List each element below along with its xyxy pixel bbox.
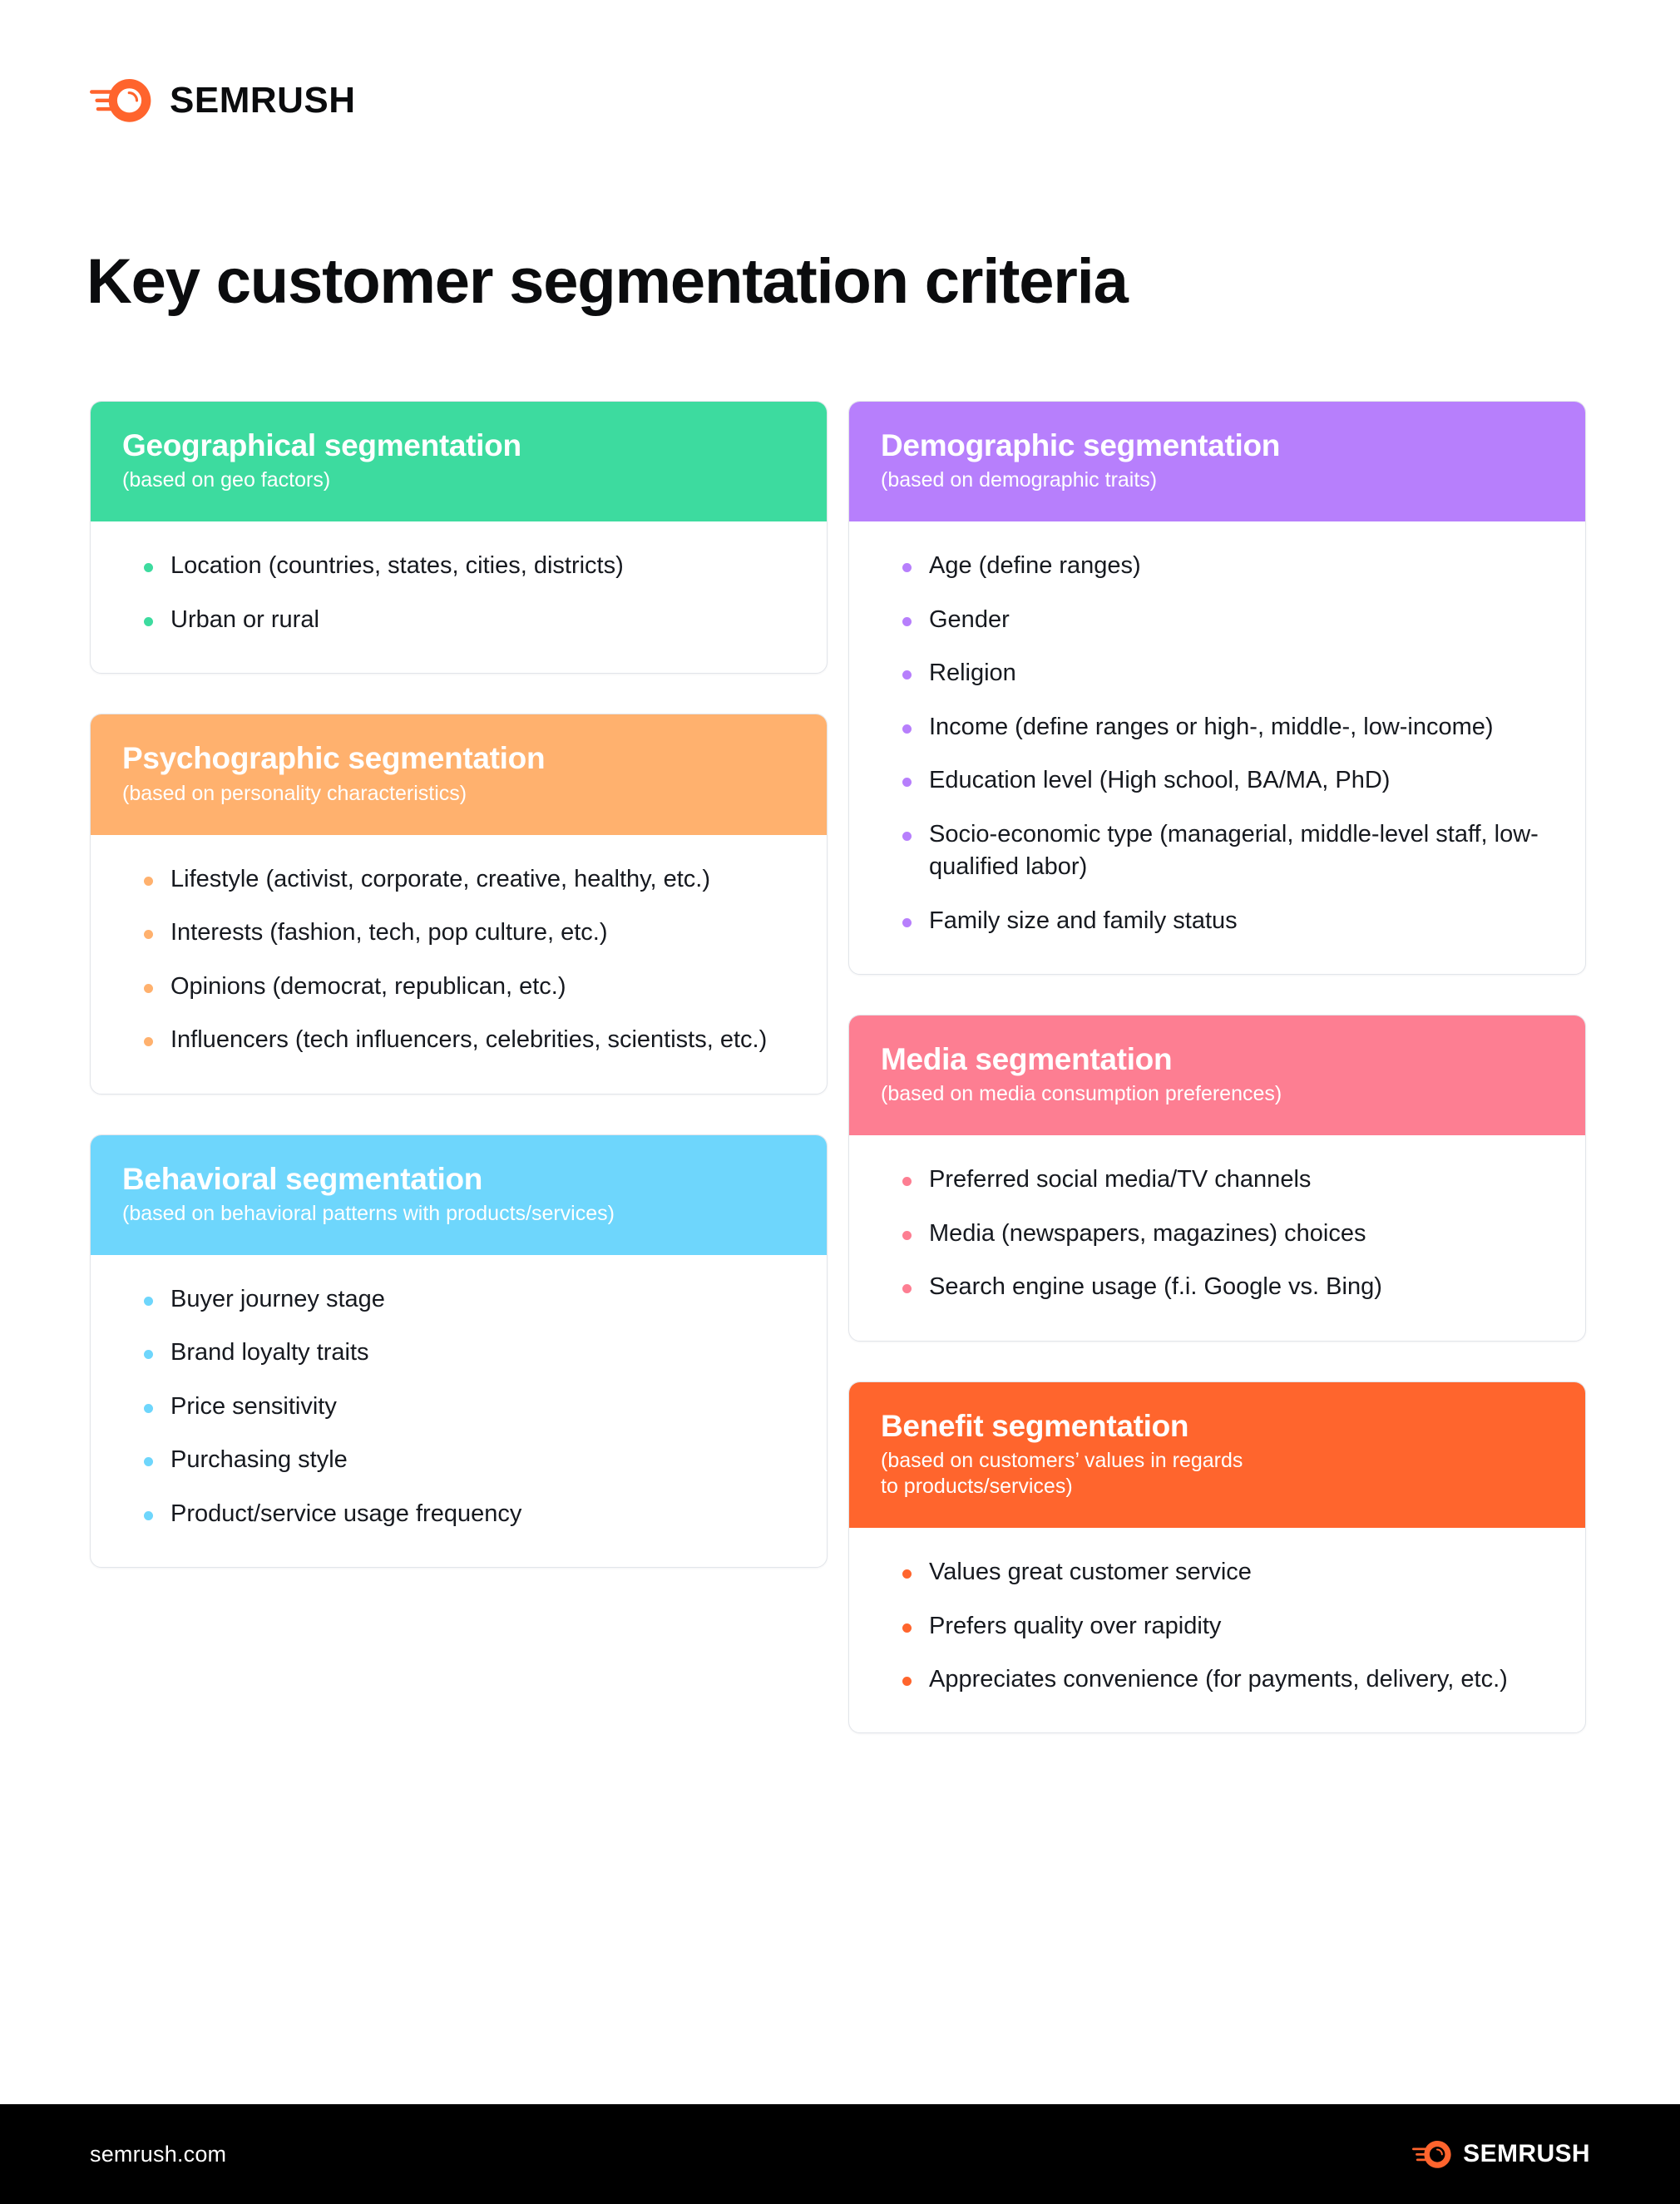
bullet-dot-icon — [902, 1284, 912, 1293]
list-item-label: Search engine usage (f.i. Google vs. Bin… — [929, 1273, 1382, 1300]
bullet-dot-icon — [902, 918, 912, 927]
card-benefit: Benefit segmentation (based on customers… — [848, 1381, 1586, 1734]
list-item-label: Product/service usage frequency — [170, 1500, 521, 1527]
list-item: Price sensitivity — [126, 1391, 792, 1423]
list-item: Purchasing style — [126, 1444, 792, 1476]
card-body-geographical: Location (countries, states, cities, dis… — [91, 521, 827, 673]
brand-wordmark: SEMRUSH — [170, 82, 356, 119]
list-item: Prefers quality over rapidity — [884, 1610, 1550, 1643]
card-body-demographic: Age (define ranges) Gender Religion Inco… — [849, 521, 1585, 974]
footer-wordmark: SEMRUSH — [1463, 2142, 1590, 2167]
list-item: Socio-economic type (managerial, middle-… — [884, 818, 1550, 884]
bullet-dot-icon — [902, 724, 912, 734]
bullet-dot-icon — [902, 563, 912, 572]
list-item-label: Income (define ranges or high-, middle-,… — [929, 714, 1494, 740]
footer-bar: semrush.com SEMRUSH — [0, 2104, 1680, 2204]
card-title: Benefit segmentation — [881, 1409, 1554, 1443]
bullet-list: Location (countries, states, cities, dis… — [126, 550, 792, 636]
bullet-dot-icon — [144, 617, 153, 626]
list-item-label: Price sensitivity — [170, 1393, 337, 1420]
card-subtitle: (based on personality characteristics) — [122, 781, 795, 807]
bullet-dot-icon — [902, 832, 912, 841]
card-subtitle: (based on geo factors) — [122, 467, 795, 493]
list-item-label: Gender — [929, 606, 1010, 633]
bullet-dot-icon — [902, 1623, 912, 1633]
list-item-label: Socio-economic type (managerial, middle-… — [929, 821, 1539, 880]
list-item-label: Preferred social media/TV channels — [929, 1166, 1311, 1193]
list-item-label: Opinions (democrat, republican, etc.) — [170, 973, 566, 1000]
list-item: Influencers (tech influencers, celebriti… — [126, 1024, 792, 1056]
list-item-label: Urban or rural — [170, 606, 319, 633]
card-title: Geographical segmentation — [122, 428, 795, 462]
list-item: Family size and family status — [884, 905, 1550, 937]
card-demographic: Demographic segmentation (based on demog… — [848, 401, 1586, 975]
bullet-dot-icon — [144, 984, 153, 993]
bullet-list: Buyer journey stage Brand loyalty traits… — [126, 1283, 792, 1530]
card-subtitle: (based on behavioral patterns with produ… — [122, 1201, 795, 1227]
card-header-demographic: Demographic segmentation (based on demog… — [849, 402, 1585, 521]
bullet-dot-icon — [144, 1457, 153, 1466]
list-item: Location (countries, states, cities, dis… — [126, 550, 792, 582]
list-item-label: Lifestyle (activist, corporate, creative… — [170, 866, 710, 892]
card-subtitle: (based on customers’ values in regards t… — [881, 1448, 1554, 1500]
right-column: Demographic segmentation (based on demog… — [848, 401, 1586, 1733]
bullet-dot-icon — [144, 1037, 153, 1046]
bullet-dot-icon — [144, 1350, 153, 1359]
card-header-geographical: Geographical segmentation (based on geo … — [91, 402, 827, 521]
list-item-label: Location (countries, states, cities, dis… — [170, 552, 624, 579]
segmentation-board: Geographical segmentation (based on geo … — [90, 401, 1587, 1733]
card-subtitle: (based on media consumption preferences) — [881, 1081, 1554, 1107]
card-title: Media segmentation — [881, 1042, 1554, 1076]
card-title: Demographic segmentation — [881, 428, 1554, 462]
list-item: Preferred social media/TV channels — [884, 1164, 1550, 1196]
bullet-dot-icon — [902, 1677, 912, 1686]
list-item: Opinions (democrat, republican, etc.) — [126, 971, 792, 1003]
semrush-comet-icon — [90, 79, 151, 122]
list-item: Brand loyalty traits — [126, 1337, 792, 1369]
list-item: Interests (fashion, tech, pop culture, e… — [126, 917, 792, 949]
card-header-benefit: Benefit segmentation (based on customers… — [849, 1382, 1585, 1528]
list-item-label: Family size and family status — [929, 907, 1238, 934]
footer-url[interactable]: semrush.com — [90, 2142, 226, 2167]
list-item: Urban or rural — [126, 604, 792, 636]
card-media: Media segmentation (based on media consu… — [848, 1015, 1586, 1342]
list-item: Gender — [884, 604, 1550, 636]
bullet-dot-icon — [144, 1511, 153, 1520]
list-item-label: Buyer journey stage — [170, 1286, 385, 1312]
list-item-label: Influencers (tech influencers, celebriti… — [170, 1026, 767, 1053]
list-item-label: Interests (fashion, tech, pop culture, e… — [170, 919, 607, 946]
list-item: Values great customer service — [884, 1556, 1550, 1589]
bullet-list: Preferred social media/TV channels Media… — [884, 1164, 1550, 1303]
card-behavioral: Behavioral segmentation (based on behavi… — [90, 1134, 828, 1569]
card-psychographic: Psychographic segmentation (based on per… — [90, 714, 828, 1094]
bullet-dot-icon — [902, 670, 912, 679]
bullet-dot-icon — [144, 563, 153, 572]
list-item-label: Values great customer service — [929, 1559, 1252, 1585]
list-item: Religion — [884, 657, 1550, 689]
bullet-list: Values great customer service Prefers qu… — [884, 1556, 1550, 1696]
bullet-list: Age (define ranges) Gender Religion Inco… — [884, 550, 1550, 937]
bullet-dot-icon — [144, 1404, 153, 1413]
list-item-label: Religion — [929, 660, 1016, 686]
bullet-dot-icon — [902, 778, 912, 787]
card-body-media: Preferred social media/TV channels Media… — [849, 1135, 1585, 1340]
list-item-label: Prefers quality over rapidity — [929, 1613, 1221, 1639]
footer-brand-logo: SEMRUSH — [1412, 2141, 1590, 2168]
semrush-comet-icon — [1412, 2141, 1451, 2168]
list-item: Age (define ranges) — [884, 550, 1550, 582]
card-subtitle: (based on demographic traits) — [881, 467, 1554, 493]
list-item: Media (newspapers, magazines) choices — [884, 1218, 1550, 1250]
list-item-label: Age (define ranges) — [929, 552, 1141, 579]
left-column: Geographical segmentation (based on geo … — [90, 401, 828, 1568]
card-body-behavioral: Buyer journey stage Brand loyalty traits… — [91, 1255, 827, 1567]
card-geographical: Geographical segmentation (based on geo … — [90, 401, 828, 674]
bullet-dot-icon — [144, 930, 153, 939]
list-item-label: Education level (High school, BA/MA, PhD… — [929, 767, 1390, 793]
card-header-psychographic: Psychographic segmentation (based on per… — [91, 714, 827, 834]
bullet-dot-icon — [902, 617, 912, 626]
list-item: Product/service usage frequency — [126, 1498, 792, 1530]
bullet-dot-icon — [902, 1569, 912, 1579]
bullet-dot-icon — [144, 877, 153, 886]
brand-logo: SEMRUSH — [90, 79, 356, 122]
list-item-label: Media (newspapers, magazines) choices — [929, 1220, 1366, 1247]
bullet-dot-icon — [902, 1231, 912, 1240]
list-item: Buyer journey stage — [126, 1283, 792, 1316]
card-title: Psychographic segmentation — [122, 741, 795, 775]
list-item: Education level (High school, BA/MA, PhD… — [884, 764, 1550, 797]
list-item-label: Brand loyalty traits — [170, 1339, 369, 1366]
page-title: Key customer segmentation criteria — [86, 249, 1128, 315]
card-header-behavioral: Behavioral segmentation (based on behavi… — [91, 1135, 827, 1255]
bullet-dot-icon — [144, 1297, 153, 1306]
list-item: Search engine usage (f.i. Google vs. Bin… — [884, 1271, 1550, 1303]
card-body-psychographic: Lifestyle (activist, corporate, creative… — [91, 835, 827, 1094]
list-item: Appreciates convenience (for payments, d… — [884, 1663, 1550, 1696]
card-header-media: Media segmentation (based on media consu… — [849, 1016, 1585, 1135]
list-item-label: Appreciates convenience (for payments, d… — [929, 1666, 1508, 1693]
list-item-label: Purchasing style — [170, 1446, 348, 1473]
card-body-benefit: Values great customer service Prefers qu… — [849, 1528, 1585, 1732]
bullet-dot-icon — [902, 1177, 912, 1186]
list-item: Lifestyle (activist, corporate, creative… — [126, 863, 792, 896]
bullet-list: Lifestyle (activist, corporate, creative… — [126, 863, 792, 1057]
list-item: Income (define ranges or high-, middle-,… — [884, 711, 1550, 744]
card-title: Behavioral segmentation — [122, 1162, 795, 1196]
